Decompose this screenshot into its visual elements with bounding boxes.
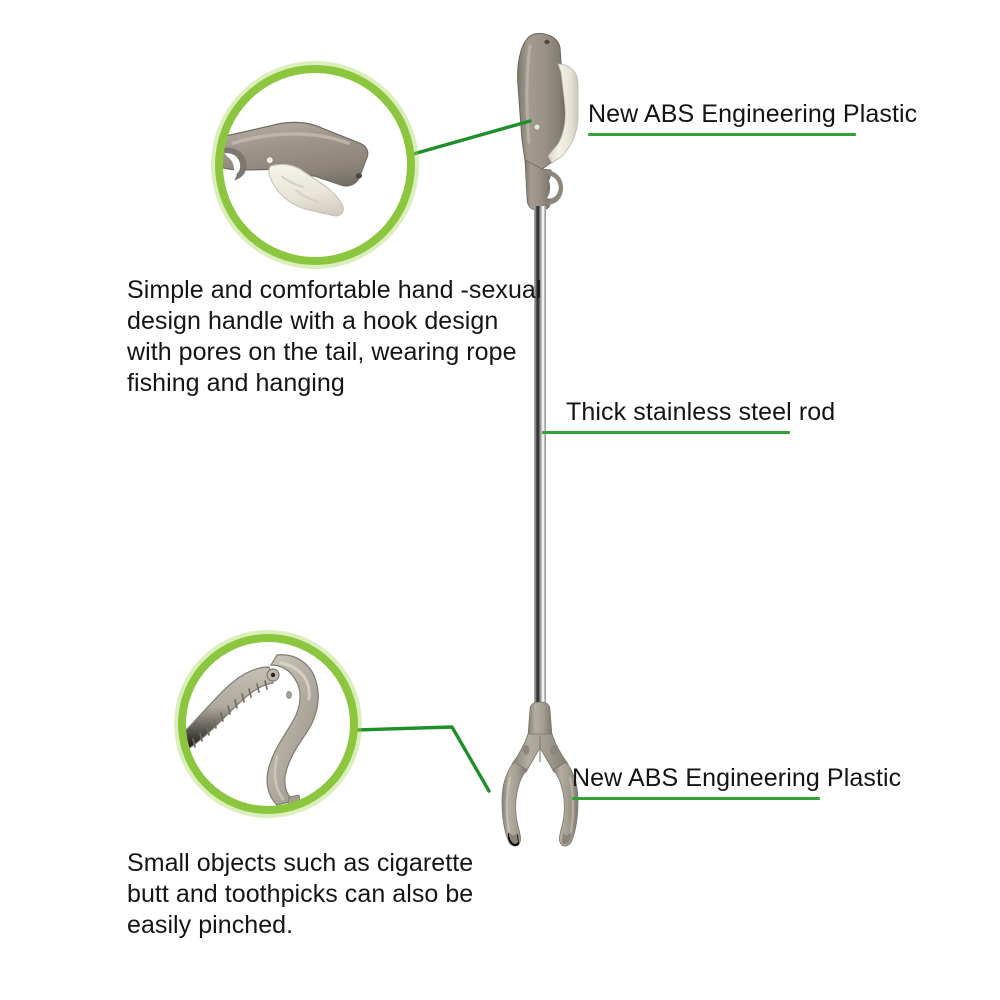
product-claw [502,702,578,846]
caption-claw-line-2: butt and toothpicks can also be [127,879,547,910]
handle-magnifier-ring [215,65,415,265]
callout-handle-material: New ABS Engineering Plastic [588,100,918,136]
caption-claw-line-1: Small objects such as cigarette [127,848,547,879]
callout-claw-material: New ABS Engineering Plastic [572,764,902,800]
product-handle [518,34,578,210]
claw-magnifier-ring [178,634,358,814]
callout-rod-material: Thick stainless steel rod [542,398,862,434]
caption-claw-precision: Small objects such as cigarette butt and… [127,848,547,941]
caption-claw-line-3: easily pinched. [127,910,547,941]
infographic-canvas: New ABS Engineering Plastic Thick stainl… [0,0,1000,1000]
caption-handle-design: Simple and comfortable hand -sexual desi… [127,275,547,399]
caption-handle-line-4: fishing and hanging [127,368,547,399]
caption-handle-line-2: design handle with a hook design [127,306,547,337]
caption-handle-line-1: Simple and comfortable hand -sexual [127,275,547,306]
callout-claw-material-label: New ABS Engineering Plastic [572,764,902,793]
callout-handle-material-underline [588,133,856,136]
caption-handle-line-3: with pores on the tail, wearing rope [127,337,547,368]
callout-rod-material-label: Thick stainless steel rod [566,398,862,427]
product-illustration [430,20,630,850]
callout-claw-material-underline [572,797,820,800]
callout-handle-material-label: New ABS Engineering Plastic [588,100,918,129]
callout-rod-material-underline [542,431,790,434]
